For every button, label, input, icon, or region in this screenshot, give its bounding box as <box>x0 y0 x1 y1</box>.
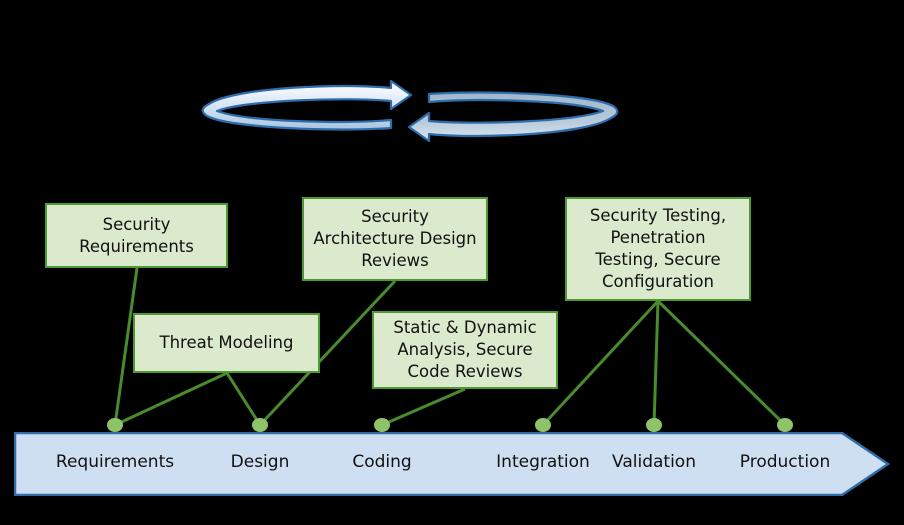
phase-dot-coding[interactable] <box>374 418 390 432</box>
phase-dot-production[interactable] <box>777 418 793 432</box>
phase-dots <box>107 418 793 432</box>
cycle-arrow-right-loop <box>409 93 617 142</box>
activity-box-security-requirements[interactable]: Security Requirements <box>45 203 228 268</box>
connector-threat-modeling-to-design <box>227 373 260 425</box>
phase-dot-requirements[interactable] <box>107 418 123 432</box>
phase-dot-validation[interactable] <box>646 418 662 432</box>
connector-threat-modeling-to-requirements <box>115 373 227 425</box>
activity-box-static-dynamic-analysis[interactable]: Static & Dynamic Analysis, Secure Code R… <box>372 311 558 389</box>
cycle-arrow-left-loop <box>203 81 411 130</box>
phase-label-design[interactable]: Design <box>231 452 290 472</box>
connector-static-dynamic-analysis-to-coding <box>382 389 465 425</box>
phase-label-production[interactable]: Production <box>740 452 830 472</box>
phase-label-integration[interactable]: Integration <box>496 452 590 472</box>
connector-security-testing-penetration-to-validation <box>654 301 658 425</box>
activity-box-security-testing-penetration[interactable]: Security Testing, Penetration Testing, S… <box>565 197 751 301</box>
phase-dot-design[interactable] <box>252 418 268 432</box>
secure-sdlc-diagram: Security RequirementsThreat ModelingSecu… <box>0 0 904 525</box>
activity-box-security-architecture-design-reviews[interactable]: Security Architecture Design Reviews <box>302 197 488 281</box>
phase-dot-integration[interactable] <box>535 418 551 432</box>
connector-security-testing-penetration-to-integration <box>543 301 658 425</box>
connector-security-testing-penetration-to-production <box>658 301 785 425</box>
activity-box-threat-modeling[interactable]: Threat Modeling <box>133 313 320 373</box>
phase-label-validation[interactable]: Validation <box>612 452 696 472</box>
iterative-cycle-arrow <box>195 78 625 144</box>
phase-label-requirements[interactable]: Requirements <box>56 452 174 472</box>
phase-label-coding[interactable]: Coding <box>352 452 411 472</box>
